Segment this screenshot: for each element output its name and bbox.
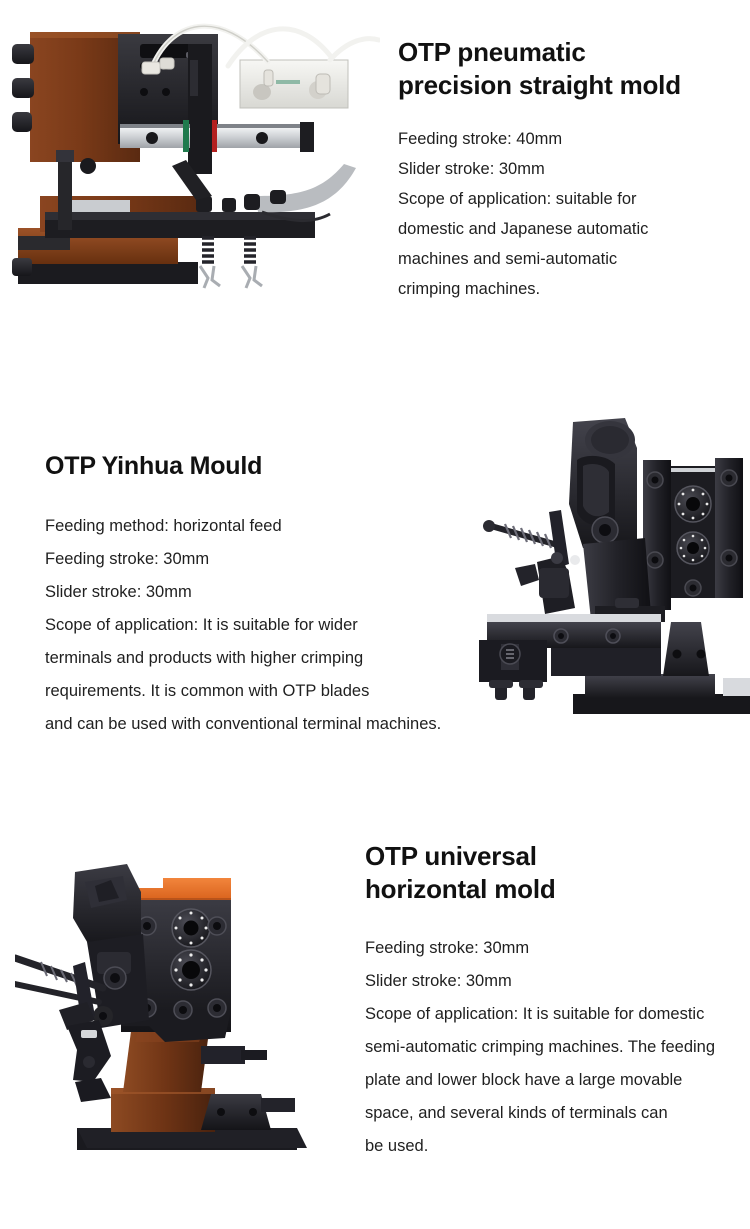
spec-list-universal: Feeding stroke: 30mm Slider stroke: 30mm… — [365, 932, 750, 1163]
product-image-universal — [15, 830, 365, 1180]
spec-item: Feeding stroke: 30mm — [365, 932, 750, 965]
spec-item: crimping machines. — [398, 274, 750, 304]
spec-item: Scope of application: It is suitable for… — [45, 609, 465, 642]
spec-item: Scope of application: It is suitable for… — [365, 998, 750, 1031]
product-section-pneumatic: OTP pneumaticprecision straight mold Fee… — [0, 0, 750, 380]
spec-item: Feeding method: horizontal feed — [45, 510, 465, 543]
product-section-universal: OTP universalhorizontal mold Feeding str… — [0, 820, 750, 1229]
page-title-universal: OTP universalhorizontal mold — [365, 840, 715, 906]
pneumatic-mold-illustration — [0, 0, 380, 330]
spec-item: Feeding stroke: 30mm — [45, 543, 465, 576]
green-indicator-strip — [183, 120, 189, 152]
spec-item: terminals and products with higher crimp… — [45, 642, 465, 675]
product-image-pneumatic — [0, 0, 380, 330]
page-title-yinhua: OTP Yinhua Mould — [45, 450, 465, 482]
spec-item: and can be used with conventional termin… — [45, 708, 465, 741]
spec-item: Slider stroke: 30mm — [365, 965, 750, 998]
spec-item: Scope of application: suitable for — [398, 184, 750, 214]
red-indicator-strip — [212, 120, 217, 152]
adjustment-dial-lower-3 — [171, 950, 211, 990]
spec-list-yinhua: Feeding method: horizontal feed Feeding … — [45, 510, 465, 741]
page-title-pneumatic: OTP pneumaticprecision straight mold — [398, 36, 738, 102]
spec-item: plate and lower block have a large movab… — [365, 1064, 750, 1097]
adjustment-dial-upper-3 — [172, 909, 210, 947]
title-line-1: OTP universal — [365, 841, 537, 871]
spec-list-pneumatic: Feeding stroke: 40mm Slider stroke: 30mm… — [398, 124, 750, 304]
spec-item: Feeding stroke: 40mm — [398, 124, 750, 154]
spec-item: domestic and Japanese automatic — [398, 214, 750, 244]
product-copy-yinhua: OTP Yinhua Mould Feeding method: horizon… — [0, 400, 465, 741]
product-section-yinhua: OTP Yinhua Mould Feeding method: horizon… — [0, 400, 750, 800]
adjustment-dial-upper — [675, 486, 711, 522]
title-line-2: horizontal mold — [365, 874, 556, 904]
spec-item: space, and several kinds of terminals ca… — [365, 1097, 750, 1130]
spec-item: requirements. It is common with OTP blad… — [45, 675, 465, 708]
universal-horizontal-mold-illustration — [15, 830, 365, 1180]
spec-item: be used. — [365, 1130, 750, 1163]
product-image-yinhua — [465, 408, 750, 748]
yinhua-mould-illustration — [465, 408, 750, 748]
product-copy-universal: OTP universalhorizontal mold Feeding str… — [365, 820, 750, 1163]
adjustment-dial-lower — [677, 532, 709, 564]
title-line-2: precision straight mold — [398, 70, 681, 100]
spec-item: machines and semi-automatic — [398, 244, 750, 274]
product-copy-pneumatic: OTP pneumaticprecision straight mold Fee… — [380, 0, 750, 304]
spec-item: Slider stroke: 30mm — [398, 154, 750, 184]
title-line-1: OTP pneumatic — [398, 37, 586, 67]
spec-item: semi-automatic crimping machines. The fe… — [365, 1031, 750, 1064]
spec-item: Slider stroke: 30mm — [45, 576, 465, 609]
